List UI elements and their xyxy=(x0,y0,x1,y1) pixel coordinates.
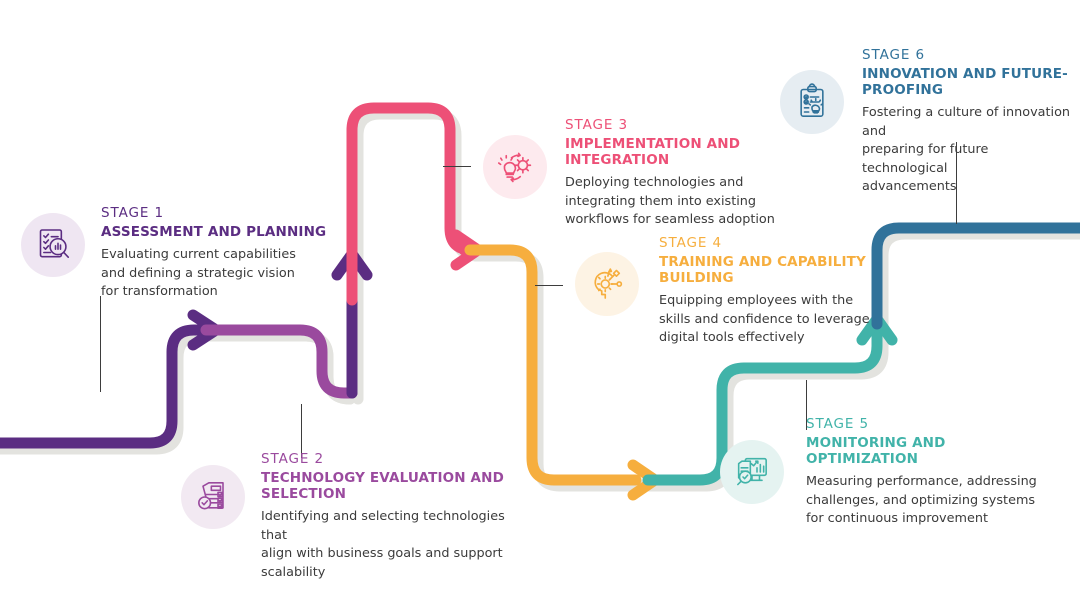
stage-2-description: Identifying and selecting technologies t… xyxy=(261,508,521,582)
stage-4-icon-badge[interactable] xyxy=(575,252,639,316)
flow-segment-stage1 xyxy=(0,330,208,443)
clipboard-magnifier-chart-icon xyxy=(33,225,73,265)
stage-6-description: Fostering a culture of innovation and pr… xyxy=(862,104,1077,197)
connector-tick-stage1 xyxy=(100,296,101,392)
stage-4-label: STAGE 4 xyxy=(659,236,909,251)
head-gear-skills-icon xyxy=(586,263,628,305)
stage-1-title: ASSESSMENT AND PLANNING xyxy=(101,224,341,240)
stage-5-label: STAGE 5 xyxy=(806,417,1056,432)
stage-2-label: STAGE 2 xyxy=(261,452,521,467)
stage-6-text-block: STAGE 6 INNOVATION AND FUTURE-PROOFING F… xyxy=(862,48,1077,197)
stage-6-title: INNOVATION AND FUTURE-PROOFING xyxy=(862,66,1077,98)
stage-4-text-block: STAGE 4 TRAINING AND CAPABILITY BUILDING… xyxy=(659,236,909,348)
stage-3-title: IMPLEMENTATION AND INTEGRATION xyxy=(565,136,815,168)
stage-3-description: Deploying technologies and integrating t… xyxy=(565,174,815,230)
monitor-analytics-magnifier-icon xyxy=(732,452,772,492)
stage-5-text-block: STAGE 5 MONITORING AND OPTIMIZATION Meas… xyxy=(806,417,1056,529)
stage-3-icon-badge[interactable] xyxy=(483,135,547,199)
connector-tick-stage3 xyxy=(443,166,471,167)
stage-2-text-block: STAGE 2 TECHNOLOGY EVALUATION AND SELECT… xyxy=(261,452,521,582)
checklist-document-check-icon xyxy=(193,477,233,517)
stage-2-icon-badge[interactable] xyxy=(181,465,245,529)
stage-6-label: STAGE 6 xyxy=(862,48,1077,63)
stage-2-title: TECHNOLOGY EVALUATION AND SELECTION xyxy=(261,470,521,502)
clipboard-lightbulb-icon xyxy=(792,82,832,122)
stage-6-icon-badge[interactable] xyxy=(780,70,844,134)
stage-4-description: Equipping employees with the skills and … xyxy=(659,292,909,348)
stage-3-text-block: STAGE 3 IMPLEMENTATION AND INTEGRATION D… xyxy=(565,118,815,230)
lightbulb-gear-cycle-icon xyxy=(494,146,536,188)
stage-3-label: STAGE 3 xyxy=(565,118,815,133)
stage-1-text-block: STAGE 1 ASSESSMENT AND PLANNING Evaluati… xyxy=(101,206,341,302)
stage-1-label: STAGE 1 xyxy=(101,206,341,221)
connector-tick-stage4 xyxy=(535,285,563,286)
connector-tick-stage2 xyxy=(301,404,302,458)
stage-1-description: Evaluating current capabilities and defi… xyxy=(101,246,341,302)
stage-5-description: Measuring performance, addressing challe… xyxy=(806,473,1056,529)
stage-1-icon-badge[interactable] xyxy=(21,213,85,277)
stage-4-title: TRAINING AND CAPABILITY BUILDING xyxy=(659,254,909,286)
stage-5-icon-badge[interactable] xyxy=(720,440,784,504)
stage-5-title: MONITORING AND OPTIMIZATION xyxy=(806,435,1056,467)
infographic-canvas: STAGE 1 ASSESSMENT AND PLANNING Evaluati… xyxy=(0,0,1080,600)
